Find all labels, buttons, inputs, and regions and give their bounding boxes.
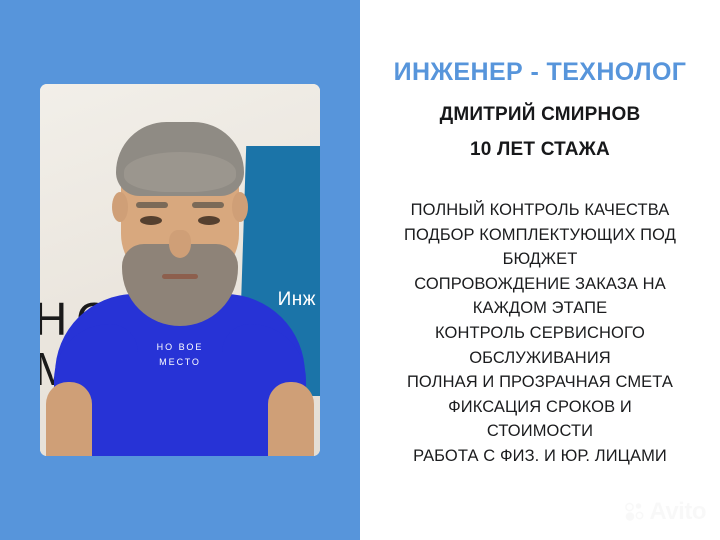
person-mouth	[162, 274, 198, 279]
tshirt-print-line-1: НО ВОЕ	[157, 340, 204, 355]
benefit-line: ПОЛНЫЙ КОНТРОЛЬ КАЧЕСТВА	[368, 198, 712, 223]
benefit-line: РАБОТА С ФИЗ. И ЮР. ЛИЦАМИ	[368, 444, 712, 469]
benefit-line: КОНТРОЛЬ СЕРВИСНОГО	[368, 321, 712, 346]
person-eyebrow-left	[136, 202, 168, 208]
info-column: ИНЖЕНЕР - ТЕХНОЛОГ ДМИТРИЙ СМИРНОВ 10 ЛЕ…	[360, 0, 720, 540]
person-eye-left	[140, 216, 162, 225]
tshirt-print-line-2: МЕСТО	[157, 355, 204, 370]
benefit-line: БЮДЖЕТ	[368, 247, 712, 272]
avito-dots-icon	[624, 501, 646, 523]
person-nose	[169, 230, 191, 258]
benefits-list: ПОЛНЫЙ КОНТРОЛЬ КАЧЕСТВА ПОДБОР КОМПЛЕКТ…	[368, 198, 712, 469]
person-ear-left	[112, 192, 128, 222]
tshirt-print: НО ВОЕ МЕСТО	[157, 340, 204, 370]
person-arm-right	[268, 382, 314, 456]
job-title: ИНЖЕНЕР - ТЕХНОЛОГ	[360, 58, 720, 87]
person-eye-right	[198, 216, 220, 225]
benefit-line: ПОДБОР КОМПЛЕКТУЮЩИХ ПОД	[368, 223, 712, 248]
person-arm-left	[46, 382, 92, 456]
person-ear-right	[232, 192, 248, 222]
benefit-line: КАЖДОМ ЭТАПЕ	[368, 296, 712, 321]
experience-line: 10 ЛЕТ СТАЖА	[360, 139, 720, 161]
benefit-line: ОБСЛУЖИВАНИЯ	[368, 346, 712, 371]
avito-wordmark: Avito	[649, 498, 706, 526]
person-hair	[116, 122, 244, 196]
benefit-line: ФИКСАЦИЯ СРОКОВ И	[368, 395, 712, 420]
benefit-line: СОПРОВОЖДЕНИЕ ЗАКАЗА НА	[368, 272, 712, 297]
benefit-line: ПОЛНАЯ И ПРОЗРАЧНАЯ СМЕТА	[368, 370, 712, 395]
person-eyebrow-right	[192, 202, 224, 208]
person-figure: НО ВОЕ МЕСТО	[40, 84, 320, 456]
benefit-line: СТОИМОСТИ	[368, 419, 712, 444]
ad-card: Инж НОВ М	[0, 0, 720, 540]
portrait-photo: Инж НОВ М	[40, 84, 320, 456]
avito-watermark: Avito	[624, 498, 706, 526]
person-name: ДМИТРИЙ СМИРНОВ	[360, 104, 720, 126]
